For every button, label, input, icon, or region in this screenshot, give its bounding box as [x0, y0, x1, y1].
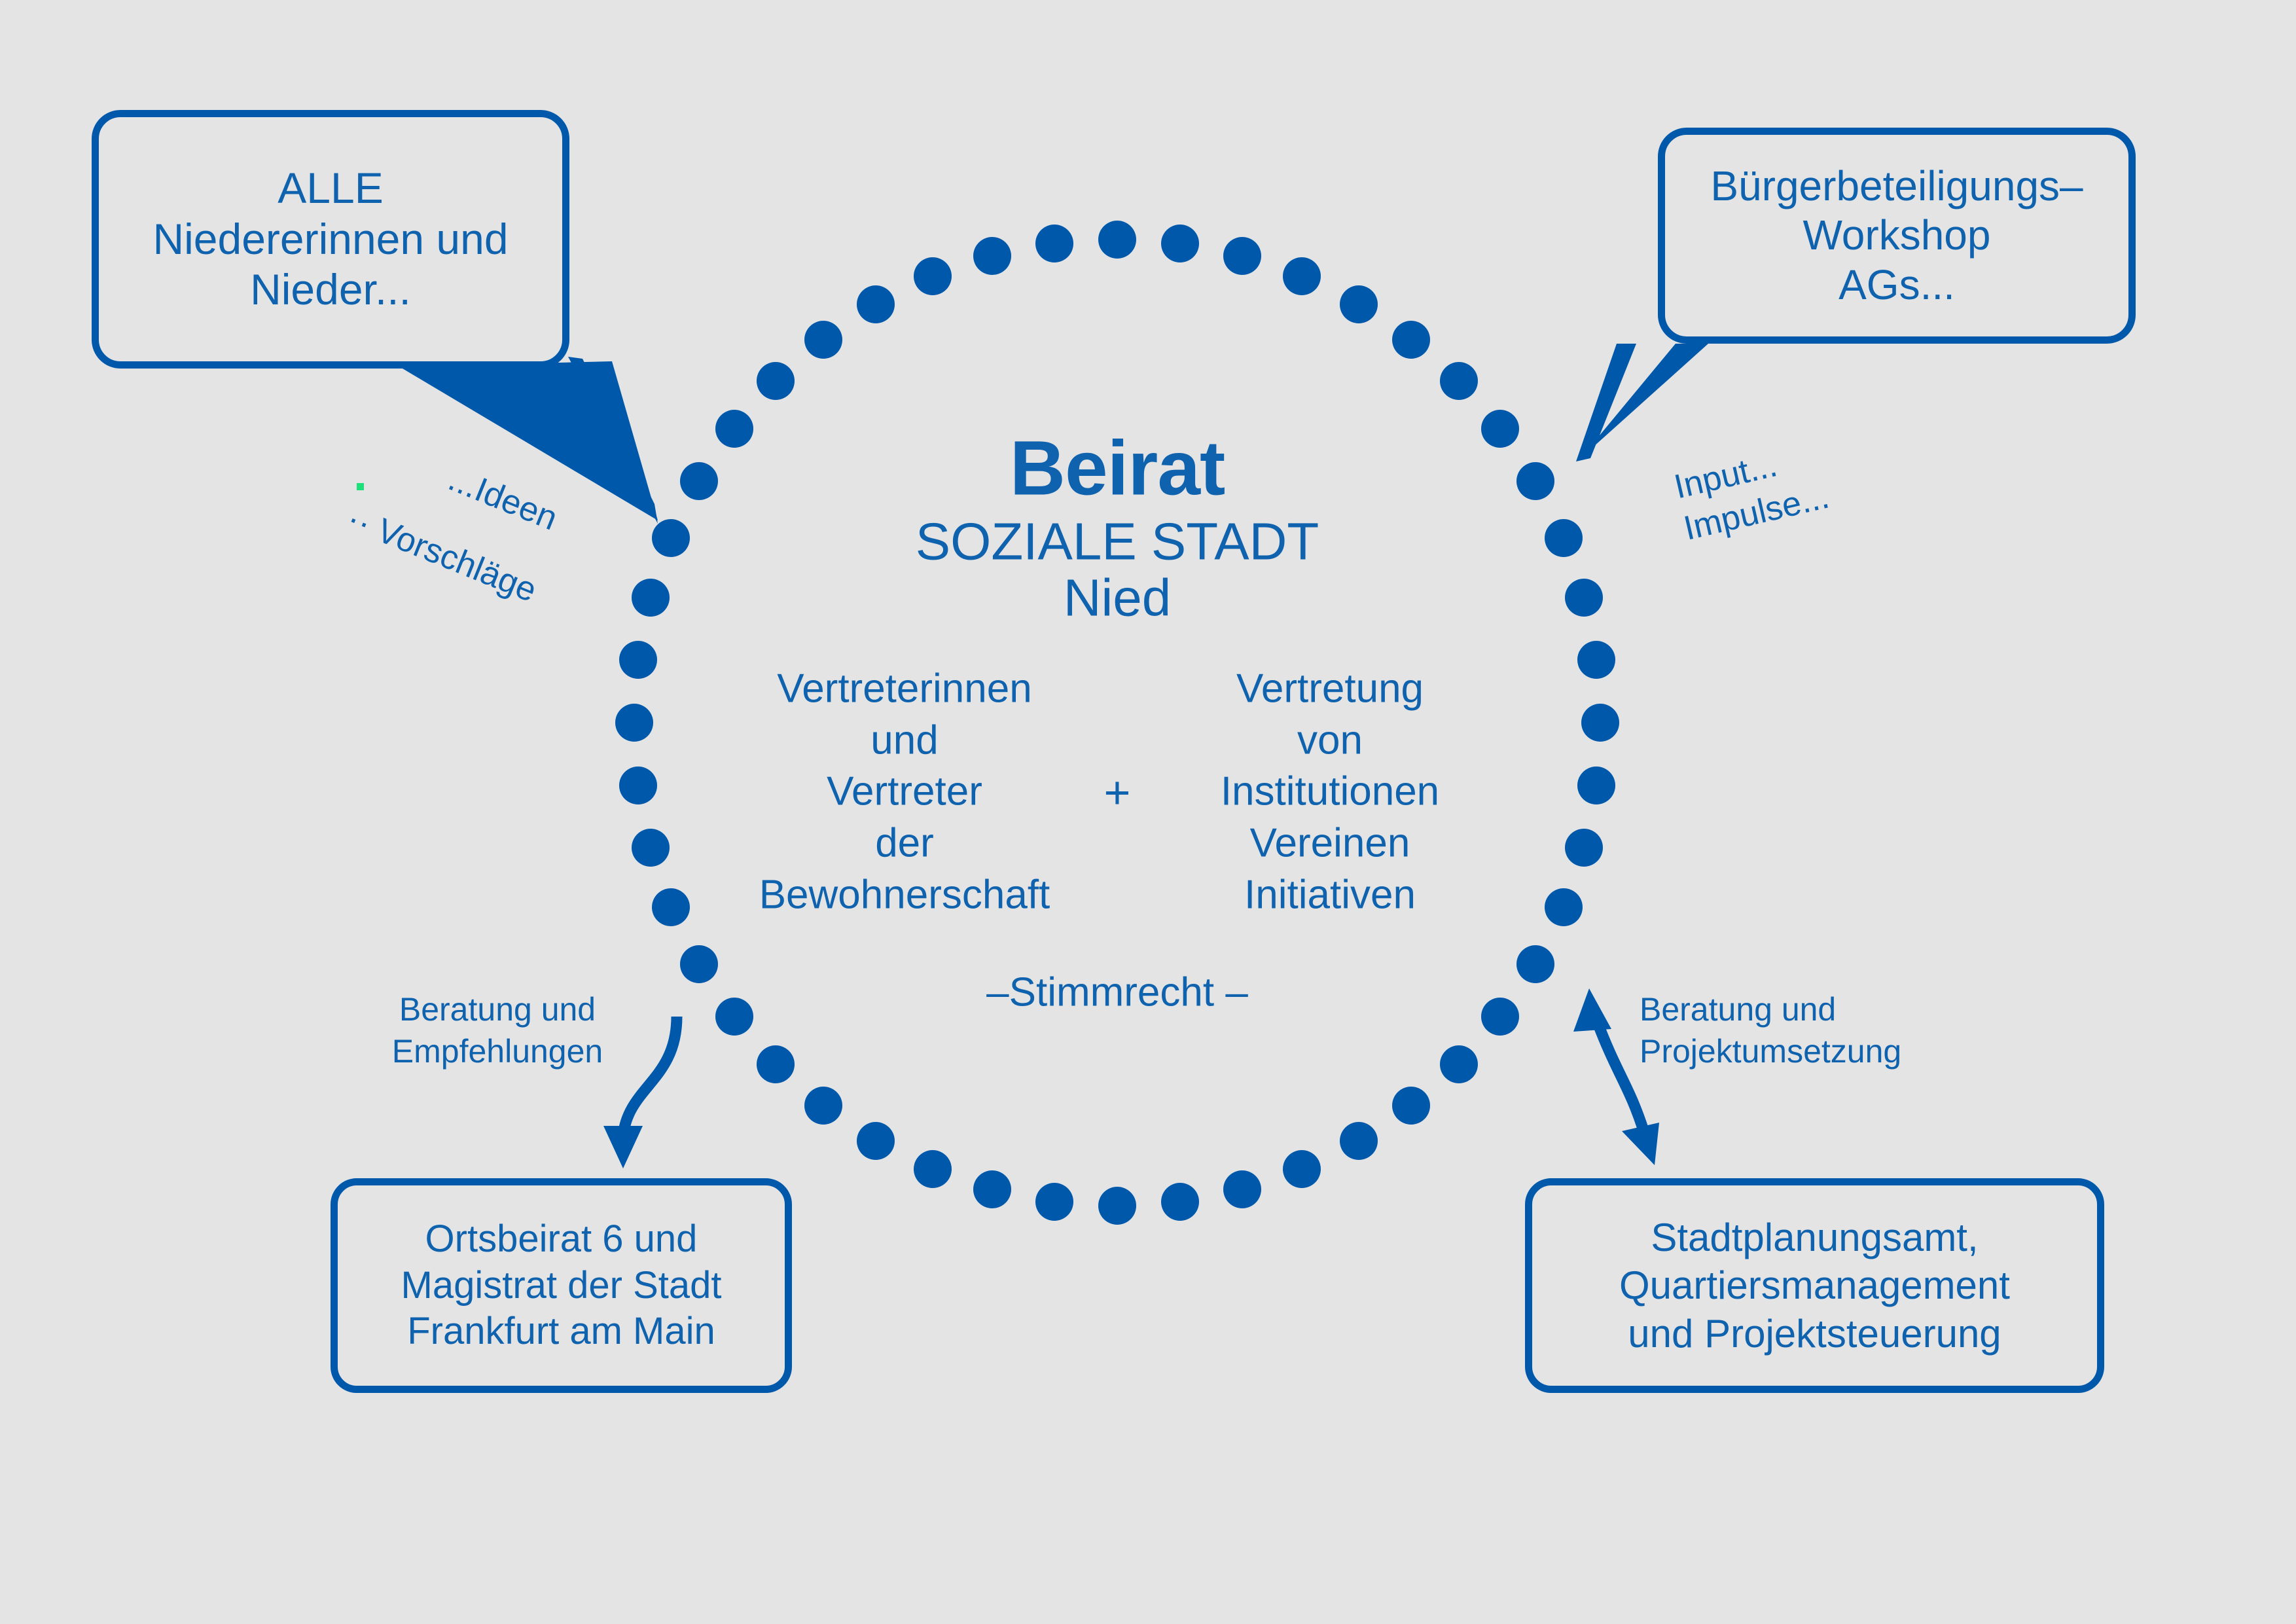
membership-columns: Vertreterinnen und Vertreter der Bewohne… [679, 663, 1556, 921]
box-left-line-2: Magistrat der Stadt [401, 1263, 722, 1309]
circle-dot [757, 1045, 795, 1083]
circle-dot [1035, 1183, 1073, 1221]
column-residents-line-3: Vertreter [734, 767, 1075, 818]
annotation-beratung-right-line-1: Beratung und [1640, 988, 1954, 1030]
bubble-right-line-1: Bürgerbeteiligungs– [1710, 162, 2083, 211]
circle-dot [1283, 1150, 1321, 1188]
plus-icon: + [1075, 766, 1160, 818]
column-residents-line-4: der [734, 818, 1075, 869]
circle-dot [1440, 1045, 1478, 1083]
circle-dot [1161, 1183, 1199, 1221]
circle-dot [632, 579, 670, 617]
circle-dot [1440, 362, 1478, 400]
circle-dot [619, 767, 657, 804]
bubble-left-line-1: ALLE [152, 163, 508, 214]
circle-dot [914, 1150, 952, 1188]
column-institutions-line-2: von [1160, 715, 1500, 767]
column-residents-line-2: und [734, 715, 1075, 767]
speech-bubble-residents[interactable]: ALLE Niedererinnen und Nieder... [92, 110, 569, 369]
page-title: Beirat [679, 429, 1556, 507]
speech-bubble-residents-text: ALLE Niedererinnen und Nieder... [141, 163, 520, 316]
circle-dot [1565, 829, 1603, 867]
annotation-beratung-left-line-2: Empfehlungen [367, 1030, 628, 1072]
annotation-beratung-right-line-2: Projektumsetzung [1640, 1030, 1954, 1072]
circle-dot [1581, 704, 1619, 742]
circle-dot [1577, 767, 1615, 804]
annotation-beratung-empfehlungen: Beratung und Empfehlungen [367, 988, 628, 1072]
circle-dot [1035, 225, 1073, 262]
circle-dot [1161, 225, 1199, 262]
column-institutions-line-4: Vereinen [1160, 818, 1500, 869]
page-subtitle-line-2: Nied [679, 570, 1556, 626]
circle-dot [1340, 285, 1378, 323]
circle-dot [1392, 1087, 1430, 1125]
bubble-left-line-2: Niedererinnen und [152, 214, 508, 265]
circle-dot [1223, 237, 1261, 275]
box-ortsbeirat-magistrat[interactable]: Ortsbeirat 6 und Magistrat der Stadt Fra… [331, 1178, 792, 1393]
column-residents-line-5: Bewohnerschaft [734, 869, 1075, 921]
box-right-line-3: und Projektsteuerung [1619, 1310, 2010, 1358]
bubble-left-line-3: Nieder... [152, 264, 508, 316]
column-institutions: Vertretung von Institutionen Vereinen In… [1160, 663, 1500, 921]
circle-dot [1283, 257, 1321, 295]
box-ortsbeirat-text: Ortsbeirat 6 und Magistrat der Stadt Fra… [401, 1216, 722, 1355]
box-stadtplanungsamt[interactable]: Stadtplanungsamt, Quartiersmanagement un… [1525, 1178, 2104, 1393]
circle-dot [973, 1170, 1011, 1208]
box-left-line-3: Frankfurt am Main [401, 1308, 722, 1355]
beirat-center-block: Beirat SOZIALE STADT Nied Vertreterinnen… [679, 429, 1556, 1015]
circle-dot [1098, 221, 1136, 259]
circle-dot [619, 641, 657, 679]
box-right-line-1: Stadtplanungsamt, [1619, 1214, 2010, 1261]
box-stadtplanungsamt-text: Stadtplanungsamt, Quartiersmanagement un… [1619, 1214, 2010, 1358]
stimmrecht-note: –Stimmrecht – [679, 969, 1556, 1016]
bubble-right-line-3: AGs... [1710, 261, 2083, 310]
circle-dot [1223, 1170, 1261, 1208]
circle-dot [1577, 641, 1615, 679]
green-accent-dot [357, 483, 364, 490]
box-left-line-1: Ortsbeirat 6 und [401, 1216, 722, 1263]
column-institutions-line-3: Institutionen [1160, 767, 1500, 818]
circle-dot [615, 704, 653, 742]
circle-dot [804, 321, 842, 359]
circle-dot [857, 285, 895, 323]
box-right-line-2: Quartiersmanagement [1619, 1261, 2010, 1309]
page-subtitle-line-1: SOZIALE STADT [679, 513, 1556, 569]
circle-dot [973, 237, 1011, 275]
bubble-right-line-2: Workshop [1710, 211, 2083, 261]
column-residents: Vertreterinnen und Vertreter der Bewohne… [734, 663, 1075, 921]
circle-dot [632, 829, 670, 867]
circle-dot [1340, 1122, 1378, 1160]
speech-bubble-participation-text: Bürgerbeteiligungs– Workshop AGs... [1698, 162, 2094, 310]
circle-dot [1565, 579, 1603, 617]
circle-dot [804, 1087, 842, 1125]
circle-dot [914, 257, 952, 295]
circle-dot [757, 362, 795, 400]
speech-bubble-participation[interactable]: Bürgerbeteiligungs– Workshop AGs... [1658, 128, 2136, 344]
column-institutions-line-5: Initiativen [1160, 869, 1500, 921]
column-residents-line-1: Vertreterinnen [734, 663, 1075, 715]
column-institutions-line-1: Vertretung [1160, 663, 1500, 715]
annotation-beratung-left-line-1: Beratung und [367, 988, 628, 1030]
diagram-canvas: ALLE Niedererinnen und Nieder... Bürgerb… [0, 0, 2296, 1624]
circle-dot [857, 1122, 895, 1160]
circle-dot [1098, 1187, 1136, 1225]
circle-dot [1392, 321, 1430, 359]
annotation-beratung-projektumsetzung: Beratung und Projektumsetzung [1640, 988, 1954, 1072]
